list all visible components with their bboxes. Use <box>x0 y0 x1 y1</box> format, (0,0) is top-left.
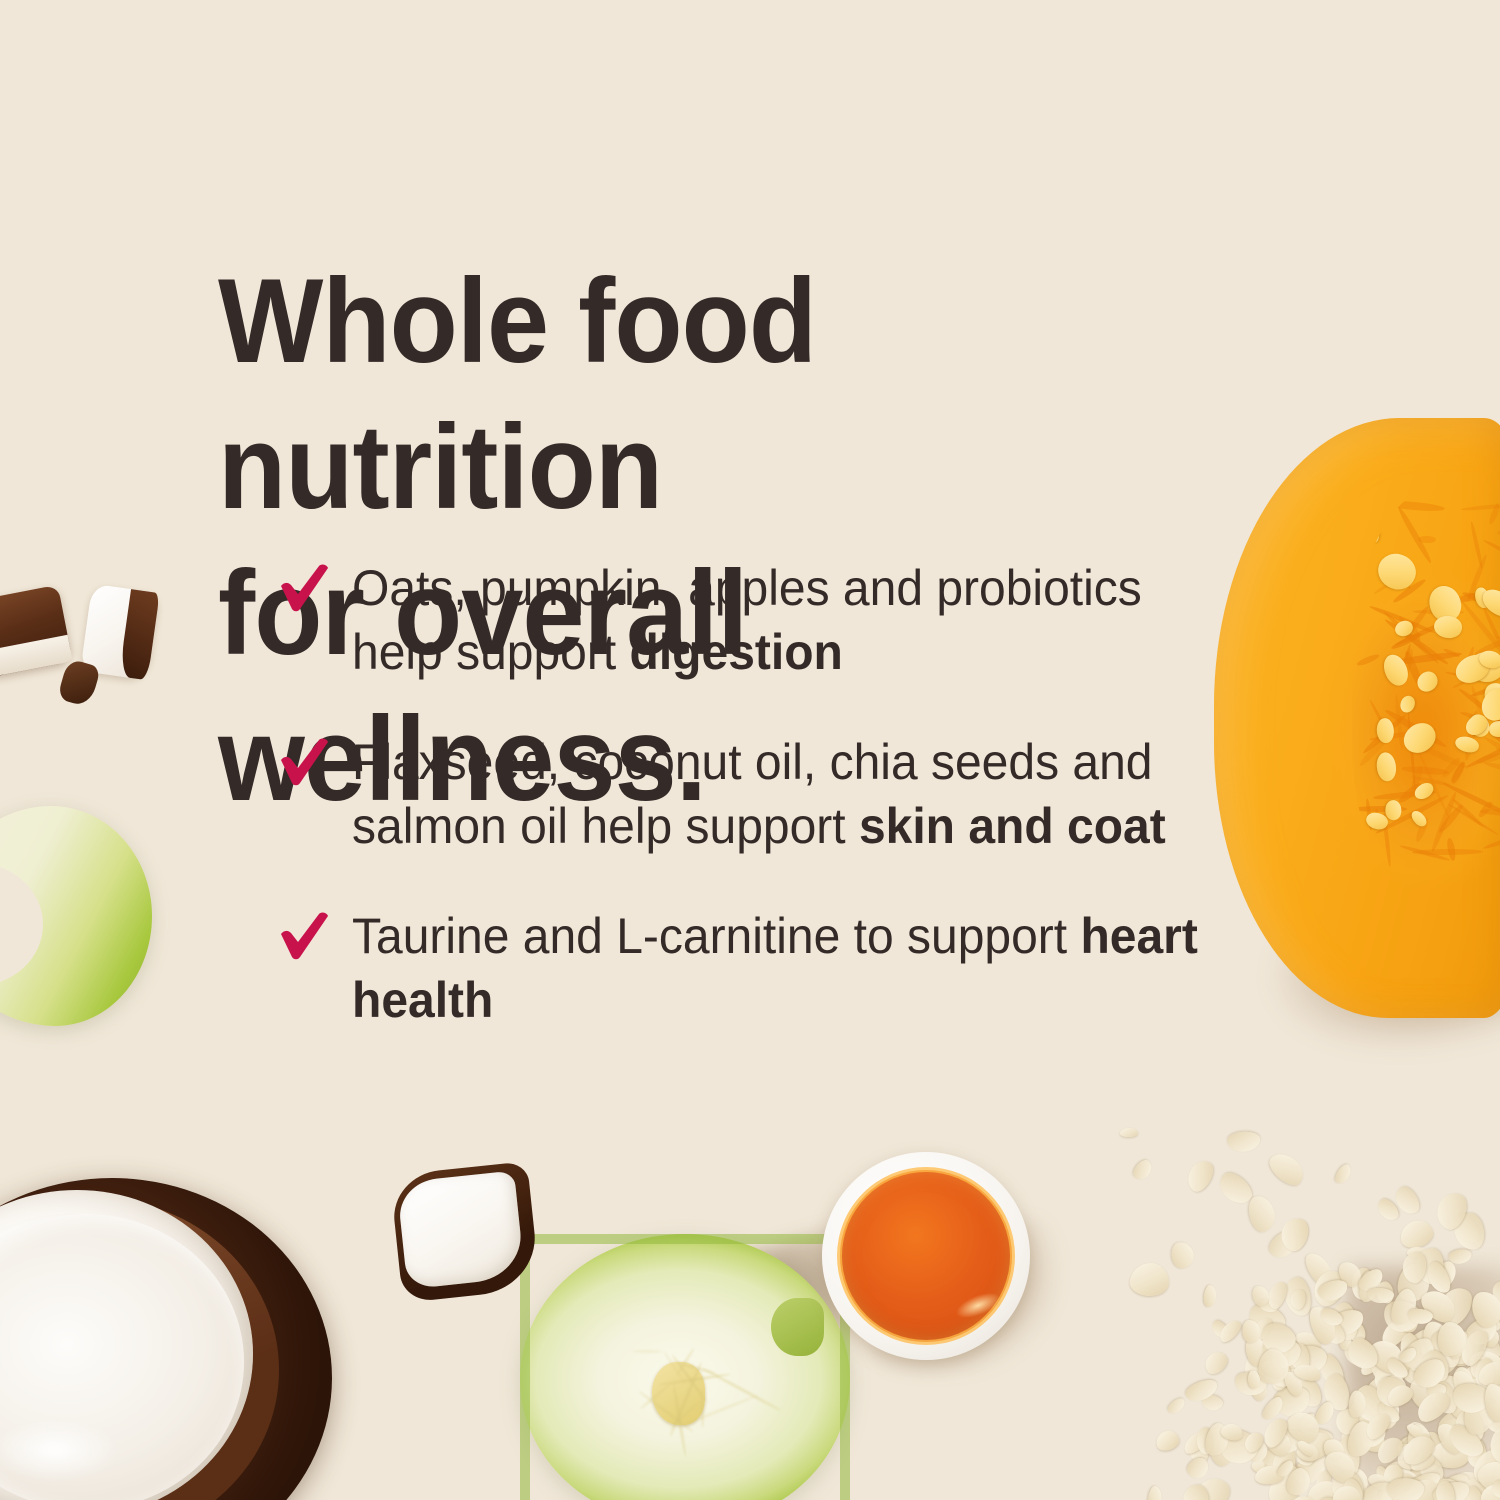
oat-flake <box>1332 1162 1354 1186</box>
oat-flake <box>1448 1249 1472 1265</box>
oat-flake <box>1202 1284 1217 1307</box>
apple-half-stem-notch <box>771 1298 824 1356</box>
list-item-text: Flaxseed, coconut oil, chia seeds and sa… <box>352 730 1203 858</box>
salmon-oil-bowl-photo <box>822 1152 1030 1360</box>
coconut-chunk-photo <box>390 1161 541 1303</box>
coconut-chunk-husk <box>0 585 73 678</box>
coconut-husk-edge <box>119 589 160 680</box>
pumpkin-seed <box>1369 527 1379 543</box>
pumpkin-seed <box>1376 752 1398 782</box>
check-icon <box>278 912 330 960</box>
pumpkin-seed <box>1432 614 1463 640</box>
pumpkin-fiber <box>1495 520 1500 537</box>
coconut-half-photo <box>0 1178 332 1500</box>
pumpkin-seed <box>1385 800 1402 820</box>
oat-flake <box>1246 1193 1277 1233</box>
apple-slice-photo <box>0 806 152 1026</box>
oat-flake <box>1265 1148 1309 1191</box>
list-item: Taurine and L-carnitine to support heart… <box>278 904 1238 1032</box>
rolled-oats-photo <box>1120 1128 1500 1500</box>
oat-flake <box>1154 1428 1182 1453</box>
benefits-list: Oats, pumpkin, apples and probiotics hel… <box>278 556 1238 1032</box>
pumpkin-fiber <box>1483 538 1500 565</box>
list-item-emphasis: skin and coat <box>859 798 1166 854</box>
bowl-rim-light <box>837 1167 1016 1346</box>
check-icon <box>278 738 330 786</box>
list-item-text: Taurine and L-carnitine to support heart… <box>352 904 1203 1032</box>
oat-flake <box>1165 1397 1187 1417</box>
pumpkin-seed <box>1489 720 1500 737</box>
pumpkin-fiber <box>1483 760 1500 782</box>
oat-flake <box>1387 1478 1425 1500</box>
apple-core-line <box>632 1350 662 1353</box>
oat-flake <box>1171 1242 1195 1269</box>
pumpkin-seed-cavity <box>1352 490 1500 886</box>
list-item: Flaxseed, coconut oil, chia seeds and sa… <box>278 730 1238 858</box>
pumpkin-fiber <box>1412 849 1483 856</box>
list-item-lead: Taurine and L-carnitine to support <box>352 908 1080 964</box>
pumpkin-seed <box>1397 693 1417 715</box>
list-item-text: Oats, pumpkin, apples and probiotics hel… <box>352 556 1203 684</box>
oat-flake <box>1227 1132 1261 1153</box>
promo-banner: Whole food nutrition for overall wellnes… <box>0 0 1500 1500</box>
oat-flake <box>1129 1262 1171 1298</box>
check-icon <box>278 564 330 612</box>
list-item-emphasis: digestion <box>630 624 843 680</box>
apple-half-photo <box>520 1234 850 1500</box>
oat-flake <box>1183 1157 1218 1196</box>
list-item: Oats, pumpkin, apples and probiotics hel… <box>278 556 1238 684</box>
oat-flake <box>1147 1486 1164 1500</box>
pumpkin-seed <box>1376 717 1394 743</box>
coconut-chunk-small <box>57 658 101 708</box>
oat-flake <box>1201 1347 1232 1377</box>
pumpkin-fiber <box>1356 652 1380 666</box>
pumpkin-half-photo <box>1214 418 1500 1018</box>
oat-flake <box>1130 1157 1155 1183</box>
oat-flake <box>1120 1128 1138 1137</box>
